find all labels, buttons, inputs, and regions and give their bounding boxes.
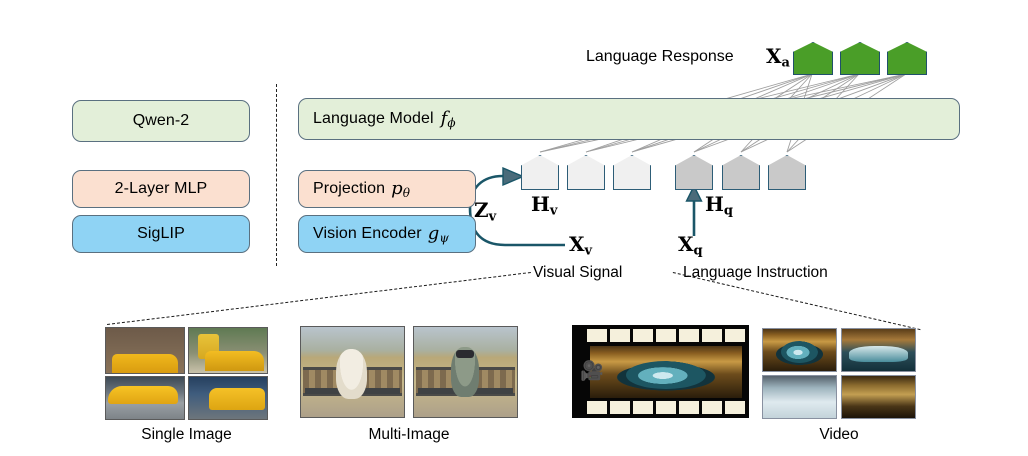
visual-token — [521, 155, 559, 190]
label-xv: Xv — [569, 232, 592, 259]
language-response-label: Language Response — [586, 48, 734, 66]
single-image-tile — [105, 327, 185, 374]
visual-token — [567, 155, 605, 190]
label-hq: Hq — [705, 192, 733, 219]
module-projection: Projection pθ — [298, 170, 476, 208]
module-siglip: SigLIP — [72, 215, 250, 253]
video-frame — [762, 328, 837, 372]
visual-token — [613, 155, 651, 190]
module-language-model: Language Model fϕ — [298, 98, 960, 140]
module-2layer-mlp-label: 2-Layer MLP — [115, 180, 208, 198]
query-token — [675, 155, 713, 190]
module-qwen2-label: Qwen-2 — [133, 112, 190, 130]
response-symbol-xa: Xa — [766, 44, 790, 71]
single-image-tile — [188, 376, 268, 420]
vision-encoder-symbol: gψ — [428, 223, 449, 245]
query-token — [768, 155, 806, 190]
connector-left — [107, 272, 531, 325]
response-token — [887, 42, 927, 75]
module-qwen2: Qwen-2 — [72, 100, 250, 142]
label-xq: Xq — [678, 232, 703, 259]
module-siglip-label: SigLIP — [137, 225, 185, 243]
module-vision-encoder-label: Vision Encoder — [313, 225, 422, 243]
single-image-caption: Single Image — [105, 426, 268, 444]
video-frame — [841, 375, 916, 419]
module-2layer-mlp: 2-Layer MLP — [72, 170, 250, 208]
panel-divider — [276, 84, 277, 266]
module-language-model-label: Language Model — [313, 110, 434, 128]
module-projection-label: Projection — [313, 180, 385, 198]
language-model-symbol: fϕ — [441, 108, 456, 130]
response-token — [793, 42, 833, 75]
single-image-tile — [188, 327, 268, 374]
label-zv: Zv — [474, 198, 496, 225]
response-token — [840, 42, 880, 75]
multi-image-tile — [413, 326, 518, 418]
module-vision-encoder: Vision Encoder gψ — [298, 215, 476, 253]
video-caption: Video — [762, 426, 916, 444]
projection-symbol: pθ — [391, 178, 410, 200]
label-hv: Hv — [531, 192, 557, 219]
visual-signal-label: Visual Signal — [533, 264, 622, 282]
video-frame — [762, 375, 837, 419]
video-frame — [841, 328, 916, 372]
query-token — [722, 155, 760, 190]
multi-image-caption: Multi-Image — [300, 426, 518, 444]
multi-image-tile — [300, 326, 405, 418]
architecture-diagram: Qwen-2 2-Layer MLP SigLIP Language Model… — [0, 0, 1028, 456]
video-camera-icon: 🎥 — [580, 362, 604, 381]
single-image-tile — [105, 376, 185, 420]
